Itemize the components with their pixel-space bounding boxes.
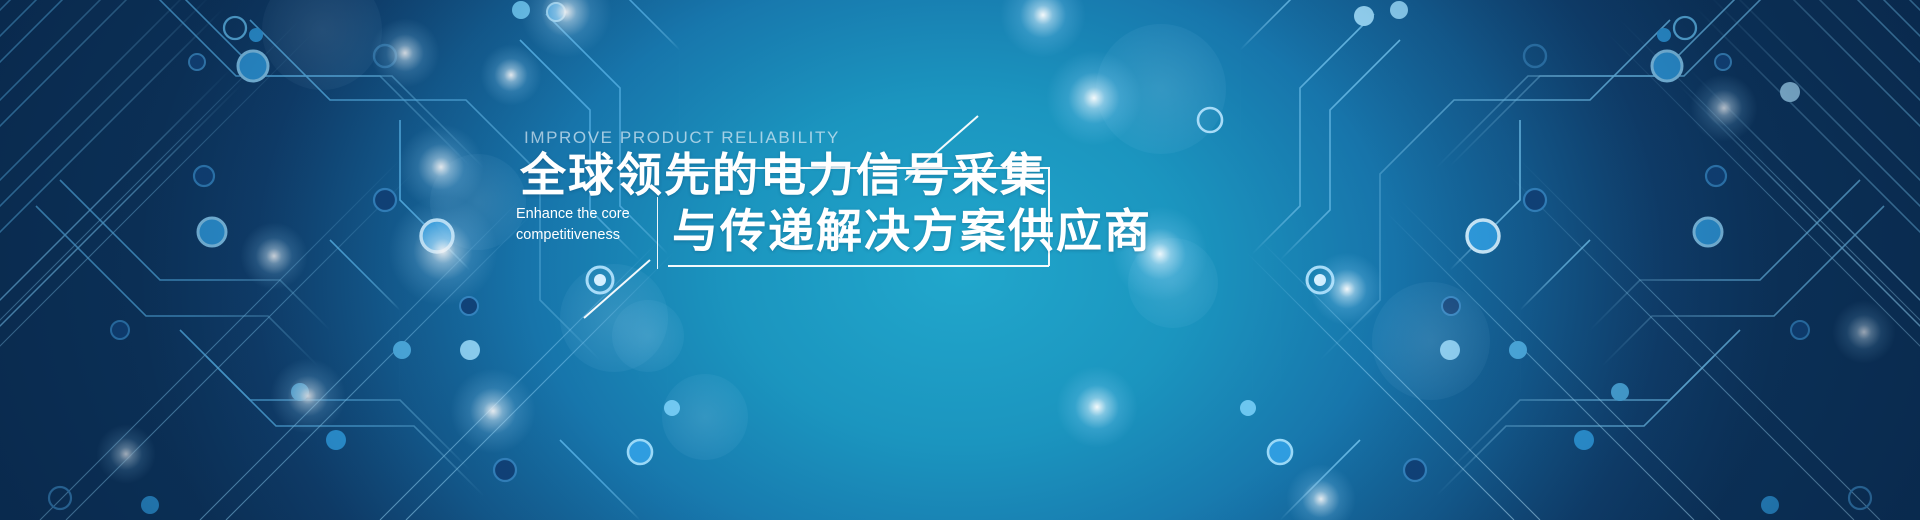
node-glow	[1056, 366, 1138, 448]
bokeh-circle	[560, 264, 668, 372]
node-glow	[1832, 300, 1896, 364]
bokeh-circle	[1096, 24, 1226, 154]
circuit-board-pattern-right	[1100, 0, 1920, 520]
decorative-frame	[0, 0, 1920, 520]
node-glow	[270, 358, 346, 434]
subcopy-line-1: Enhance the core	[516, 204, 666, 225]
subcopy-line-2: competitiveness	[516, 225, 666, 246]
node-glow	[1046, 50, 1142, 146]
hero-banner: IMPROVE PRODUCT RELIABILITY 全球领先的电力信号采集 …	[0, 0, 1920, 520]
bokeh-circle	[430, 154, 526, 250]
bokeh-circle	[1128, 238, 1218, 328]
eyebrow-text: IMPROVE PRODUCT RELIABILITY	[524, 128, 840, 148]
node-glow	[96, 424, 156, 484]
node-glow	[398, 124, 484, 210]
bokeh-circle	[1372, 282, 1490, 400]
node-glow	[1286, 464, 1356, 520]
node-glow	[370, 18, 440, 88]
hero-text-block: IMPROVE PRODUCT RELIABILITY 全球领先的电力信号采集 …	[0, 0, 1920, 520]
vertical-separator	[657, 197, 658, 269]
headline-line-1: 全球领先的电力信号采集	[520, 148, 1048, 202]
bokeh-circle	[262, 0, 382, 90]
node-glow	[1310, 252, 1384, 326]
node-glow	[1112, 206, 1208, 302]
subcopy-block: Enhance the core competitiveness	[516, 204, 666, 246]
node-glow	[1000, 0, 1086, 58]
node-glow	[450, 368, 536, 454]
node-glow	[388, 196, 498, 306]
headline-line-2: 与传递解决方案供应商	[672, 204, 1152, 258]
circuit-board-pattern-left	[0, 0, 780, 520]
node-glow	[240, 222, 308, 290]
node-glow	[520, 0, 612, 58]
node-glow	[1690, 74, 1758, 142]
bokeh-circle	[662, 374, 748, 460]
vignette-overlay	[0, 0, 1920, 520]
bokeh-circle	[612, 300, 684, 372]
node-glow	[480, 44, 542, 106]
